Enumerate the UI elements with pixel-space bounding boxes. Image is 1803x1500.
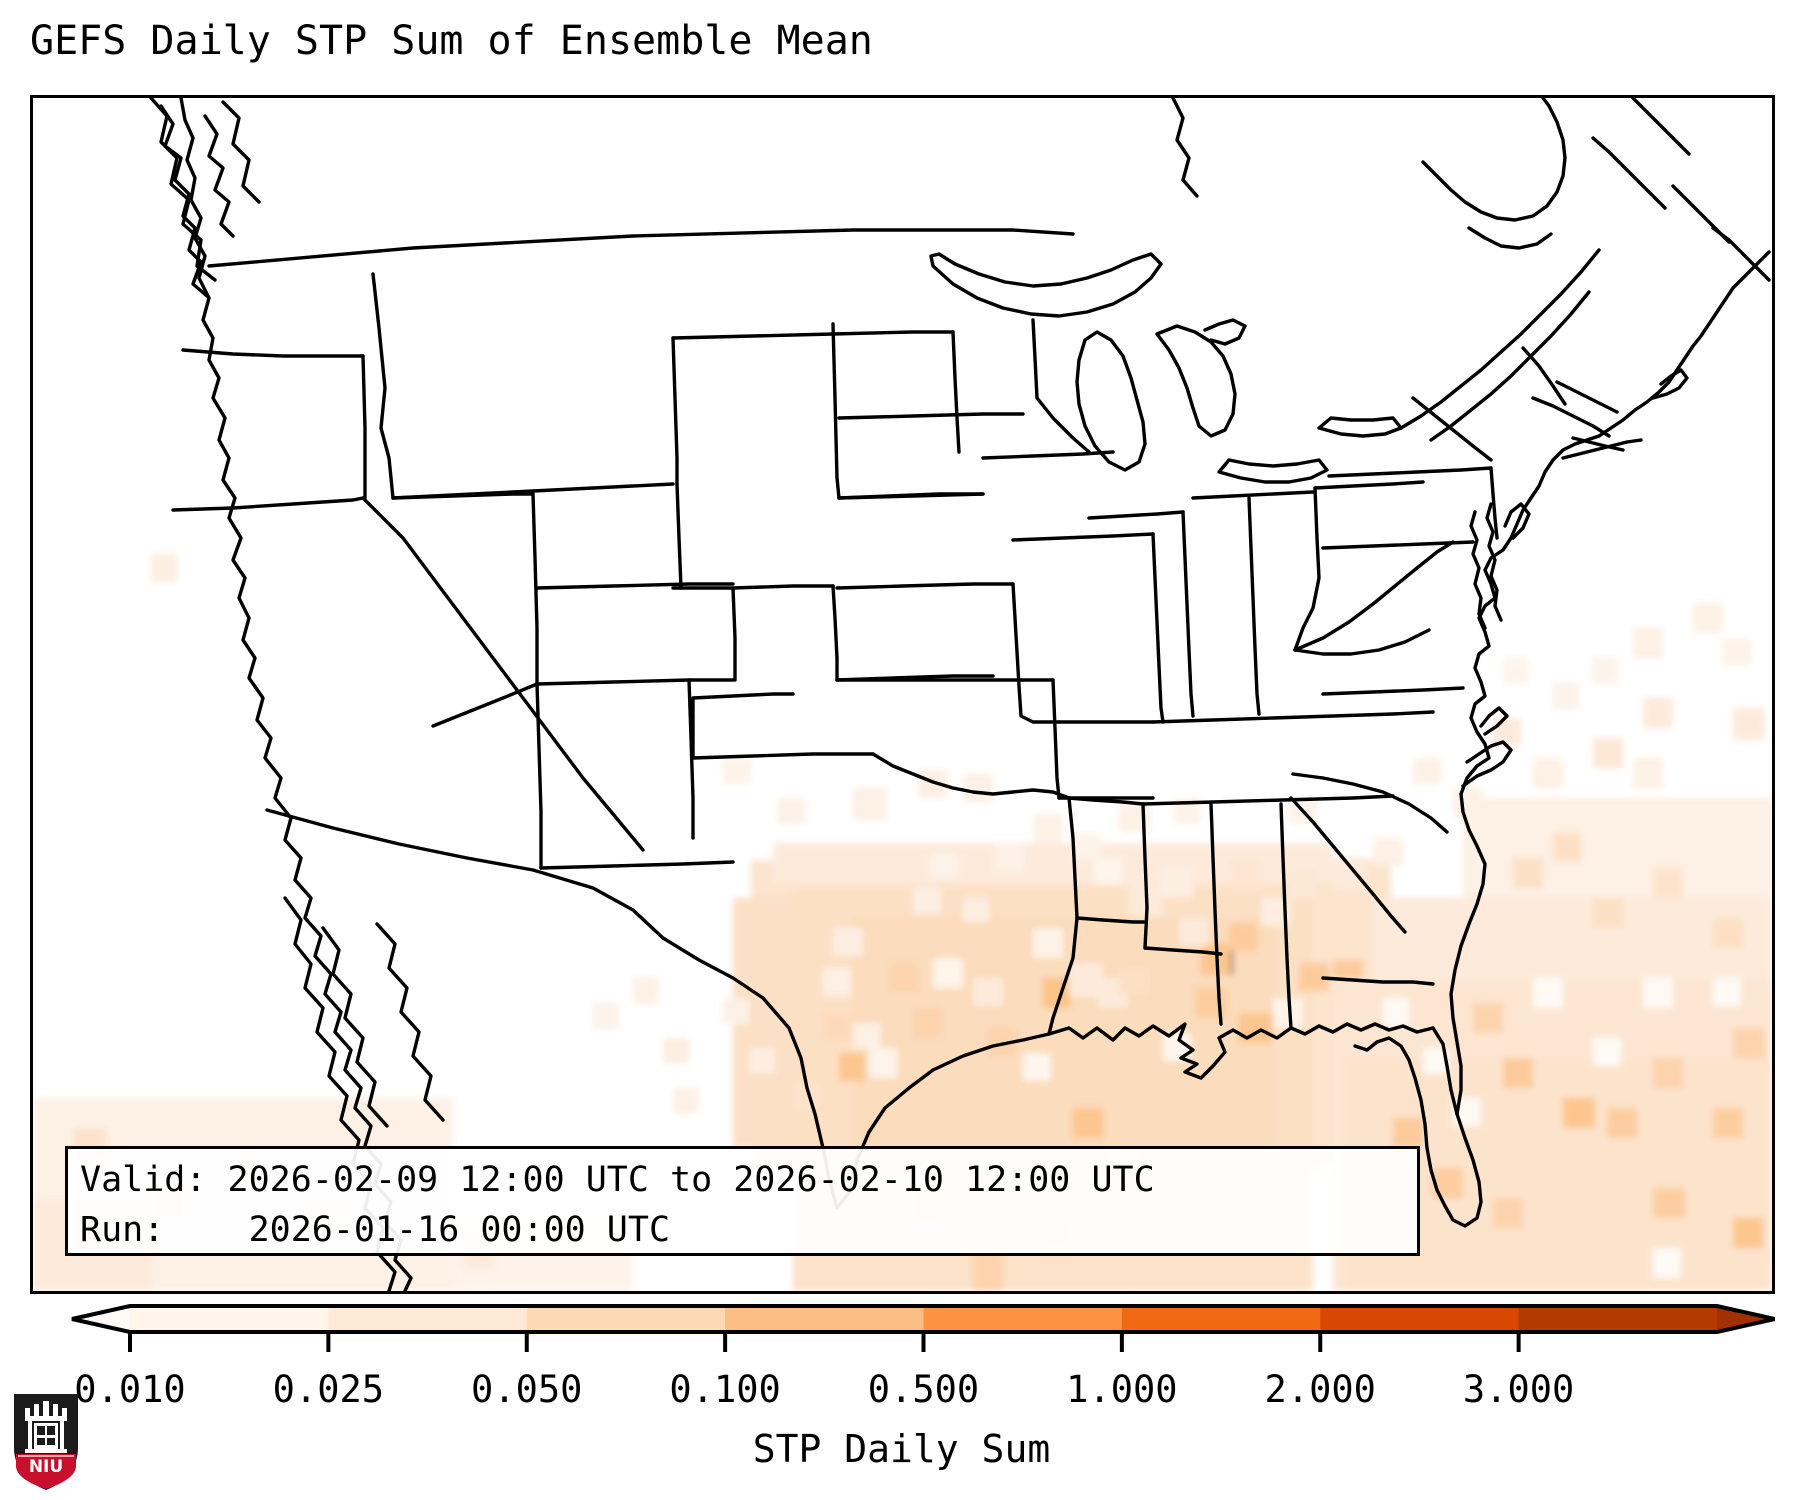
niu-wordmark: NIU — [29, 1457, 63, 1477]
colorbar-axis-label: STP Daily Sum — [0, 1427, 1803, 1471]
colorbar-tick-label: 0.500 — [868, 1368, 979, 1411]
colorbar-segment — [1320, 1306, 1519, 1332]
colorbar-segment — [1122, 1306, 1321, 1332]
colorbar-ticks — [130, 1332, 1519, 1352]
colorbar-tick-label: 3.000 — [1463, 1368, 1574, 1411]
forecast-info-box: Valid: 2026-02-09 12:00 UTC to 2026-02-1… — [65, 1146, 1420, 1256]
colorbar-segments — [130, 1306, 1718, 1332]
colorbar-segment — [130, 1306, 329, 1332]
page-title: GEFS Daily STP Sum of Ensemble Mean — [30, 18, 873, 64]
colorbar-tick-label: 0.010 — [74, 1368, 185, 1411]
colorbar-segment — [1519, 1306, 1718, 1332]
valid-time-line: Valid: 2026-02-09 12:00 UTC to 2026-02-1… — [80, 1155, 1405, 1205]
colorbar-tick-label: 2.000 — [1265, 1368, 1376, 1411]
figure-canvas: GEFS Daily STP Sum of Ensemble Mean — [0, 0, 1803, 1500]
map-svg — [33, 98, 1772, 1291]
colorbar-tick-label: 0.100 — [669, 1368, 780, 1411]
colorbar-segment — [725, 1306, 924, 1332]
colorbar-tick-labels: 0.0100.0250.0500.1000.5001.0002.0003.000 — [30, 1368, 1775, 1416]
colorbar-tick-label: 1.000 — [1066, 1368, 1177, 1411]
colorbar-segment — [328, 1306, 527, 1332]
colorbar-svg — [30, 1302, 1775, 1360]
colorbar-tick-label: 0.025 — [273, 1368, 384, 1411]
run-time-line: Run: 2026-01-16 00:00 UTC — [80, 1205, 1405, 1255]
colorbar-segment — [527, 1306, 726, 1332]
map-panel[interactable]: Valid: 2026-02-09 12:00 UTC to 2026-02-1… — [30, 95, 1775, 1294]
colorbar[interactable] — [30, 1302, 1775, 1362]
niu-logo[interactable]: NIU — [10, 1392, 82, 1492]
colorbar-tick-label: 0.050 — [471, 1368, 582, 1411]
colorbar-segment — [924, 1306, 1123, 1332]
